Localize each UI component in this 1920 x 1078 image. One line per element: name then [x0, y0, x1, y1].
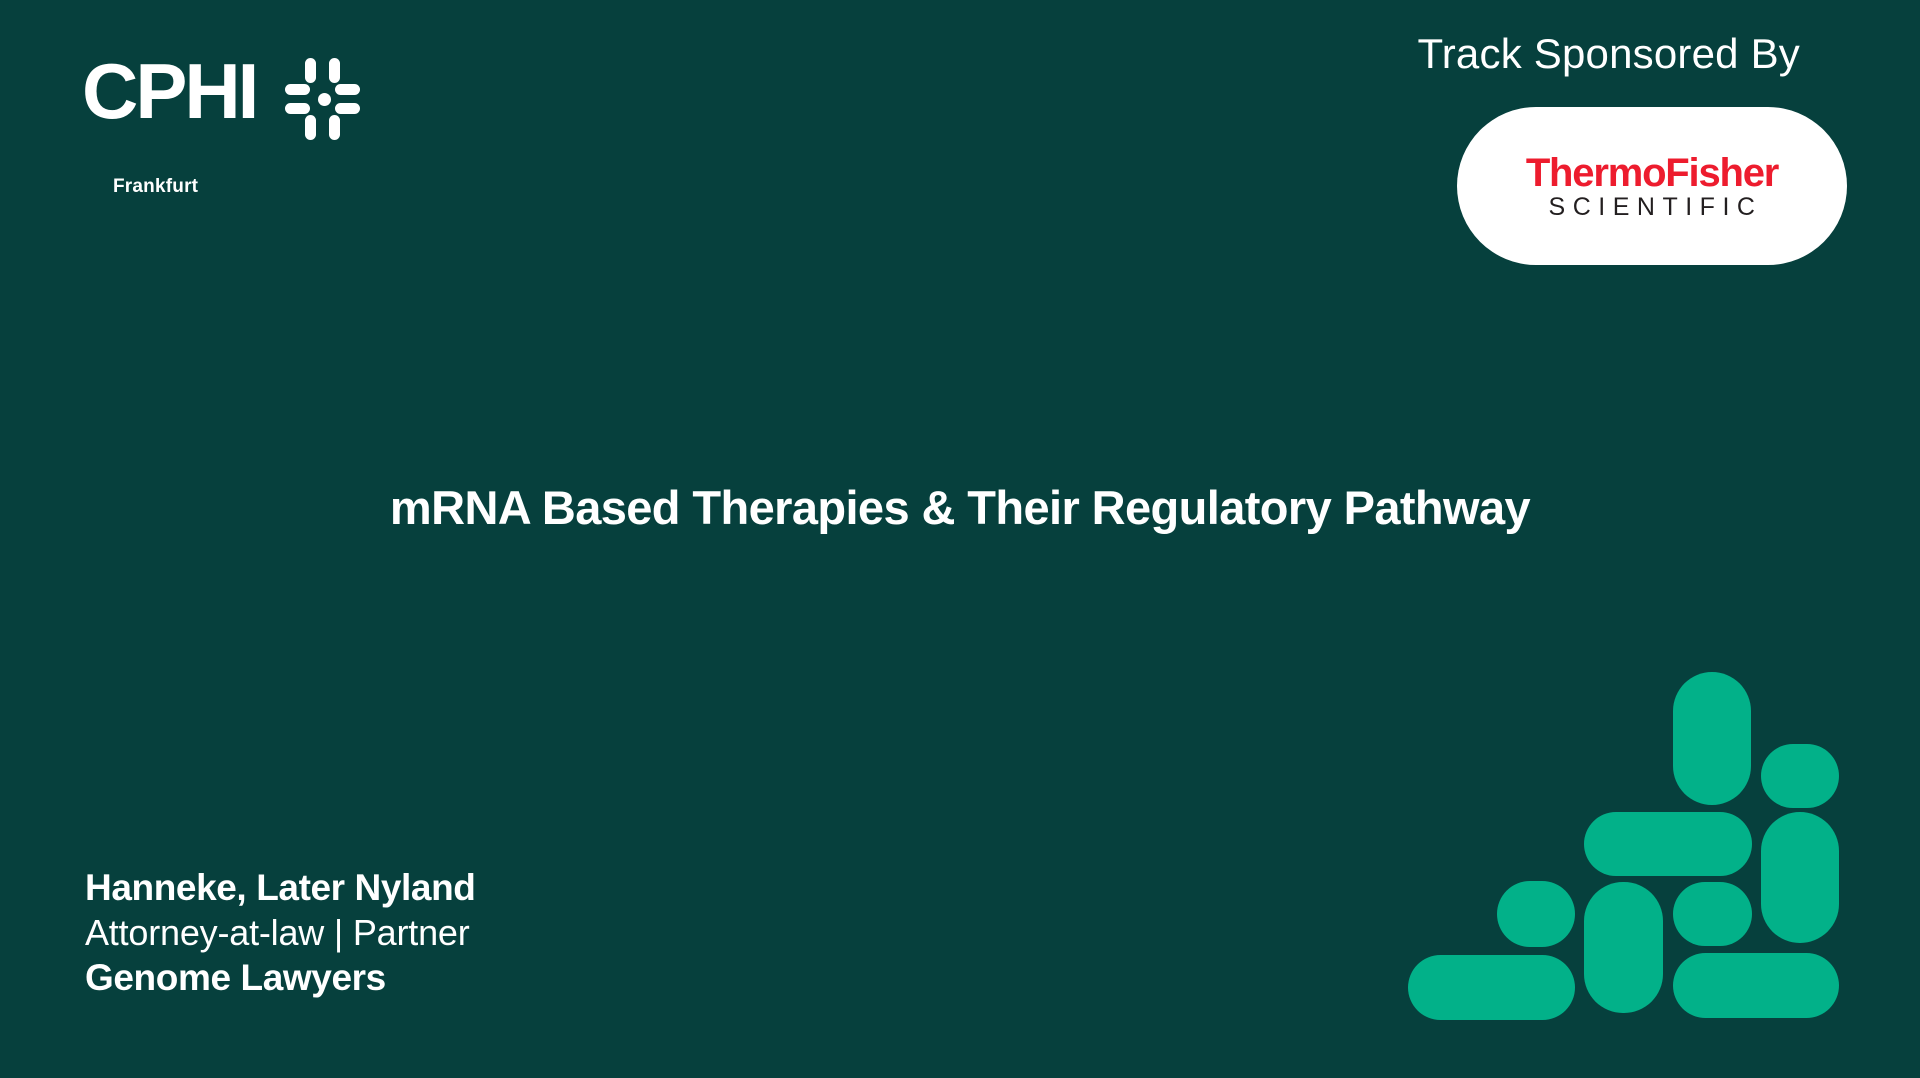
capsule-oval-upper-r: [1761, 744, 1839, 808]
cphi-wordmark: CPHI: [82, 52, 256, 130]
track-sponsored-by-label: Track Sponsored By: [1417, 30, 1800, 78]
capsule-bar-bottom-l: [1408, 955, 1575, 1020]
capsule-wide-mid: [1584, 812, 1752, 876]
cphi-location-label: Frankfurt: [113, 176, 198, 198]
speaker-organization: Genome Lawyers: [85, 955, 476, 1000]
capsule-tall-mid: [1584, 882, 1663, 1013]
speaker-block: Hanneke, Later Nyland Attorney-at-law | …: [85, 865, 476, 1000]
capsule-tall-right: [1761, 812, 1839, 943]
session-title: mRNA Based Therapies & Their Regulatory …: [0, 482, 1920, 534]
thermo-fisher-scientific-label: SCIENTIFIC: [1542, 195, 1763, 220]
slide-canvas: CPHI Frankfurt Track Sponsored By Thermo…: [0, 0, 1920, 1078]
capsule-tall-top: [1673, 672, 1751, 805]
thermo-fisher-logo: ThermoFisher SCIENTIFIC: [1457, 107, 1847, 265]
capsule-oval-mid: [1673, 882, 1752, 946]
speaker-name: Hanneke, Later Nyland: [85, 865, 476, 910]
sunburst-icon: [285, 58, 363, 138]
capsule-oval-left: [1497, 881, 1575, 947]
speaker-role: Attorney-at-law | Partner: [85, 910, 476, 955]
thermo-fisher-name: ThermoFisher: [1526, 153, 1778, 193]
capsule-bar-bottom-r: [1673, 953, 1839, 1018]
